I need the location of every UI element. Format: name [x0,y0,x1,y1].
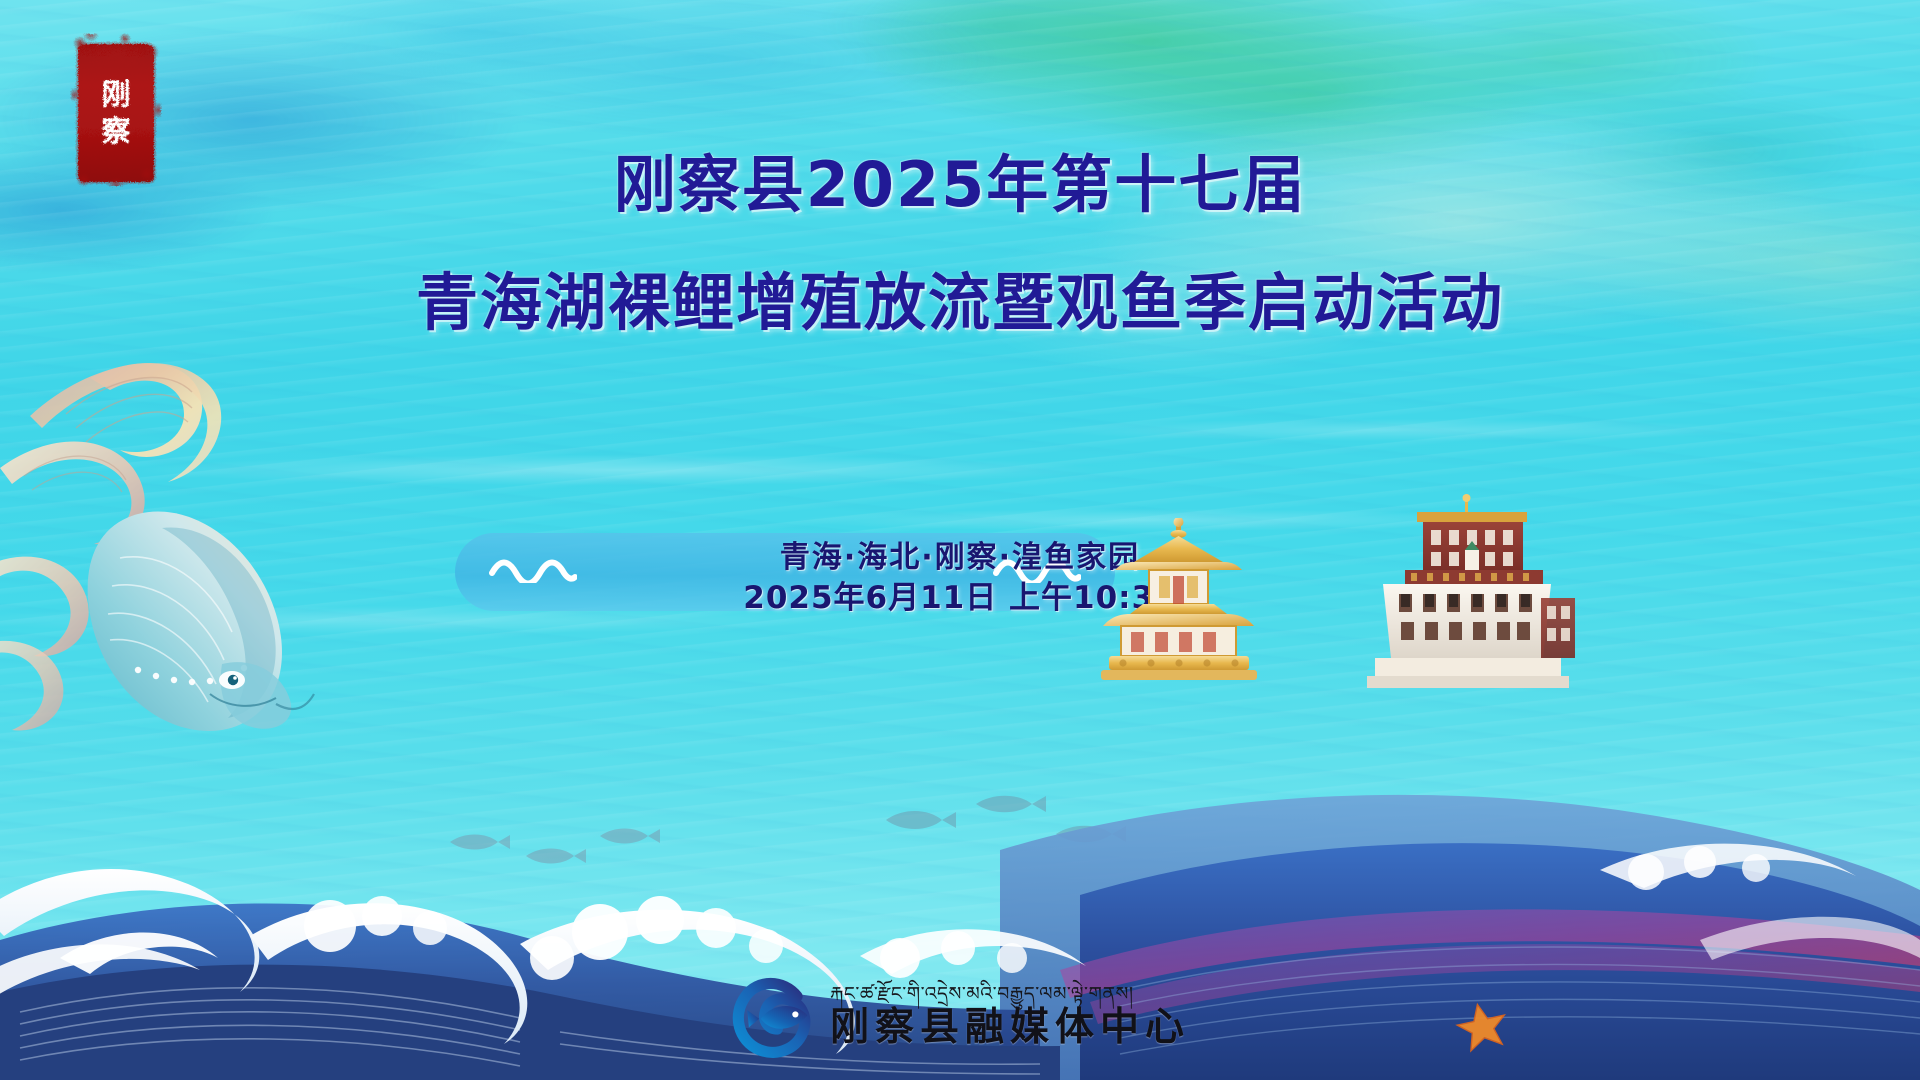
fish-swirl-logo-icon [730,974,816,1060]
subtitle-pill [455,533,1115,611]
media-center-tibetan: རྐང་ཚ་རྫོང་གི་འདྲེས་མའི་བརྒྱུད་ལམ་ལྟེ་གན… [830,983,1134,1005]
wave-decoration-left-icon [489,557,577,583]
wave-decoration-right-icon [993,557,1081,583]
gangcha-seal-stamp: 刚 察 [78,44,154,182]
seal-char-2: 察 [101,117,130,146]
media-center-logo-row: རྐང་ཚ་རྫོང་གི་འདྲེས་མའི་བརྒྱུད་ལམ་ལྟེ་གན… [0,974,1920,1060]
media-center-text: རྐང་ཚ་རྫོང་གི་འདྲེས་མའི་བརྒྱུད་ལམ་ལྟེ་གན… [830,983,1190,1051]
event-poster: 刚 察 [0,0,1920,1080]
seal-char-1: 刚 [101,80,130,109]
media-center-chinese: 刚察县融媒体中心 [830,1005,1190,1051]
